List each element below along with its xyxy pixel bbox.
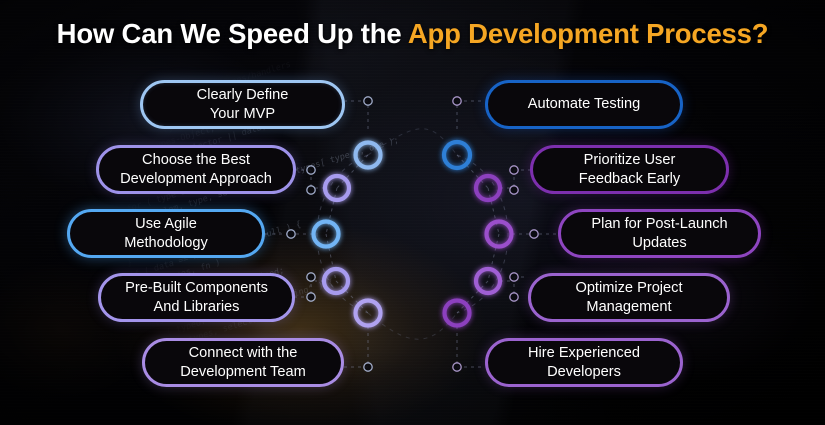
network-node-small (510, 166, 518, 174)
pill-label-line: Management (575, 298, 682, 317)
pill-label-line: Development Team (180, 363, 305, 382)
pill-plan-post-launch-updates[interactable]: Plan for Post-LaunchUpdates (558, 209, 761, 258)
network-node-small (307, 273, 315, 281)
pill-label-line: Developers (528, 363, 640, 382)
pill-label: Choose the BestDevelopment Approach (120, 151, 272, 189)
pill-label: Plan for Post-LaunchUpdates (591, 215, 727, 253)
infographic-canvas: // types can be a map of types/handlers … (0, 0, 825, 425)
pill-label-line: Pre-Built Components (125, 279, 268, 298)
pill-label-line: Development Approach (120, 170, 272, 189)
network-node-small (453, 363, 461, 371)
chain-right (457, 155, 488, 188)
pill-label-line: Automate Testing (528, 95, 641, 114)
pill-label: Connect with theDevelopment Team (180, 344, 305, 382)
pill-label: Optimize ProjectManagement (575, 279, 682, 317)
pill-label-line: Connect with the (180, 344, 305, 363)
pill-label-line: Hire Experienced (528, 344, 640, 363)
pill-label-line: Your MVP (197, 105, 289, 124)
chain-left (336, 281, 368, 313)
pill-label: Automate Testing (528, 95, 641, 114)
pill-clearly-define-your-mvp[interactable]: Clearly DefineYour MVP (140, 80, 345, 129)
pill-label-line: Plan for Post-Launch (591, 215, 727, 234)
pill-label: Prioritize UserFeedback Early (579, 151, 680, 189)
network-node-small (364, 363, 372, 371)
pill-hire-experienced-developers[interactable]: Hire ExperiencedDevelopers (485, 338, 683, 387)
pill-label-line: Feedback Early (579, 170, 680, 189)
network-node-small (364, 97, 372, 105)
pill-label: Hire ExperiencedDevelopers (528, 344, 640, 382)
pill-label: Pre-Built ComponentsAnd Libraries (125, 279, 268, 317)
header: How Can We Speed Up the App Development … (0, 0, 825, 68)
page-title: How Can We Speed Up the App Development … (57, 18, 769, 50)
pill-label: Use AgileMethodology (124, 215, 208, 253)
network-node-small (307, 186, 315, 194)
pill-label-line: Optimize Project (575, 279, 682, 298)
pill-label-line: Use Agile (124, 215, 208, 234)
pill-use-agile-methodology[interactable]: Use AgileMethodology (67, 209, 265, 258)
pill-pre-built-components[interactable]: Pre-Built ComponentsAnd Libraries (98, 273, 295, 322)
page-title-accent: App Development Process? (408, 18, 768, 49)
network-node-small (510, 186, 518, 194)
chain-left (337, 155, 368, 188)
network-node-small (453, 97, 461, 105)
pill-label-line: Updates (591, 234, 727, 253)
page-title-plain: How Can We Speed Up the (57, 18, 408, 49)
pill-label-line: Prioritize User (579, 151, 680, 170)
pill-choose-best-dev-approach[interactable]: Choose the BestDevelopment Approach (96, 145, 296, 194)
pill-automate-testing[interactable]: Automate Testing (485, 80, 683, 129)
pill-label-line: Methodology (124, 234, 208, 253)
network-node-small (510, 273, 518, 281)
pill-label-line: And Libraries (125, 298, 268, 317)
network-node-small (307, 166, 315, 174)
network-node-small (287, 230, 295, 238)
chain-right (457, 281, 488, 313)
pill-connect-development-team[interactable]: Connect with theDevelopment Team (142, 338, 344, 387)
network-node-small (510, 293, 518, 301)
pill-label-line: Clearly Define (197, 86, 289, 105)
network-node-small (530, 230, 538, 238)
network-node-small (307, 293, 315, 301)
pill-label-line: Choose the Best (120, 151, 272, 170)
pill-prioritize-user-feedback[interactable]: Prioritize UserFeedback Early (530, 145, 729, 194)
pill-label: Clearly DefineYour MVP (197, 86, 289, 124)
pill-optimize-project-management[interactable]: Optimize ProjectManagement (528, 273, 730, 322)
